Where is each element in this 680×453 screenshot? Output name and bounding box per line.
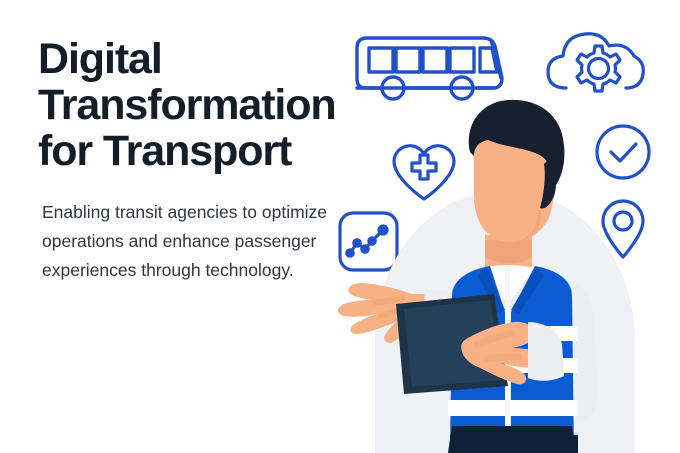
text-block: Digital Transformation for Transport Ena… bbox=[38, 36, 368, 285]
promo-banner: Digital Transformation for Transport Ena… bbox=[0, 0, 680, 453]
pants-lower bbox=[450, 435, 578, 453]
page-title: Digital Transformation for Transport bbox=[38, 36, 368, 174]
page-subtitle: Enabling transit agencies to optimize op… bbox=[42, 198, 352, 285]
cloud-gear-icon bbox=[540, 26, 650, 98]
